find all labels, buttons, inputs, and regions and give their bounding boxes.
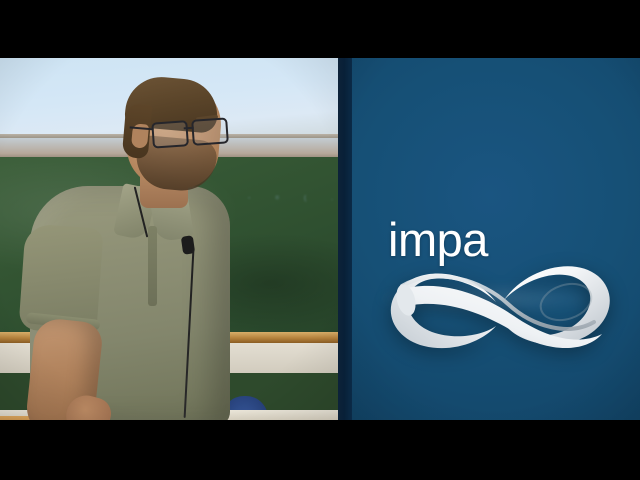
eyeglass-lens-left (151, 120, 189, 148)
video-frame: - = ( . (0, 0, 640, 480)
projection-screen-text: - = ( . (248, 194, 334, 203)
eyeglasses-icon (151, 117, 228, 146)
screen-mark: = (275, 195, 280, 202)
speaker-photo: - = ( . (0, 58, 338, 420)
eyeglass-lens-right (191, 117, 229, 145)
mobius-strip-icon (378, 250, 618, 362)
screen-mark: - (248, 195, 251, 202)
screen-mark: ( (304, 195, 307, 202)
screen-mark: . (331, 195, 334, 202)
letterbox-bar-bottom (0, 420, 640, 480)
content-band: - = ( . (0, 58, 640, 420)
speaker (0, 58, 338, 420)
letterbox-bar-top (0, 0, 640, 58)
panel-divider (338, 58, 352, 420)
speaker-shirt-placket (148, 226, 157, 306)
impa-brand-panel: impa (352, 58, 640, 420)
brand-inner: impa (352, 58, 640, 420)
